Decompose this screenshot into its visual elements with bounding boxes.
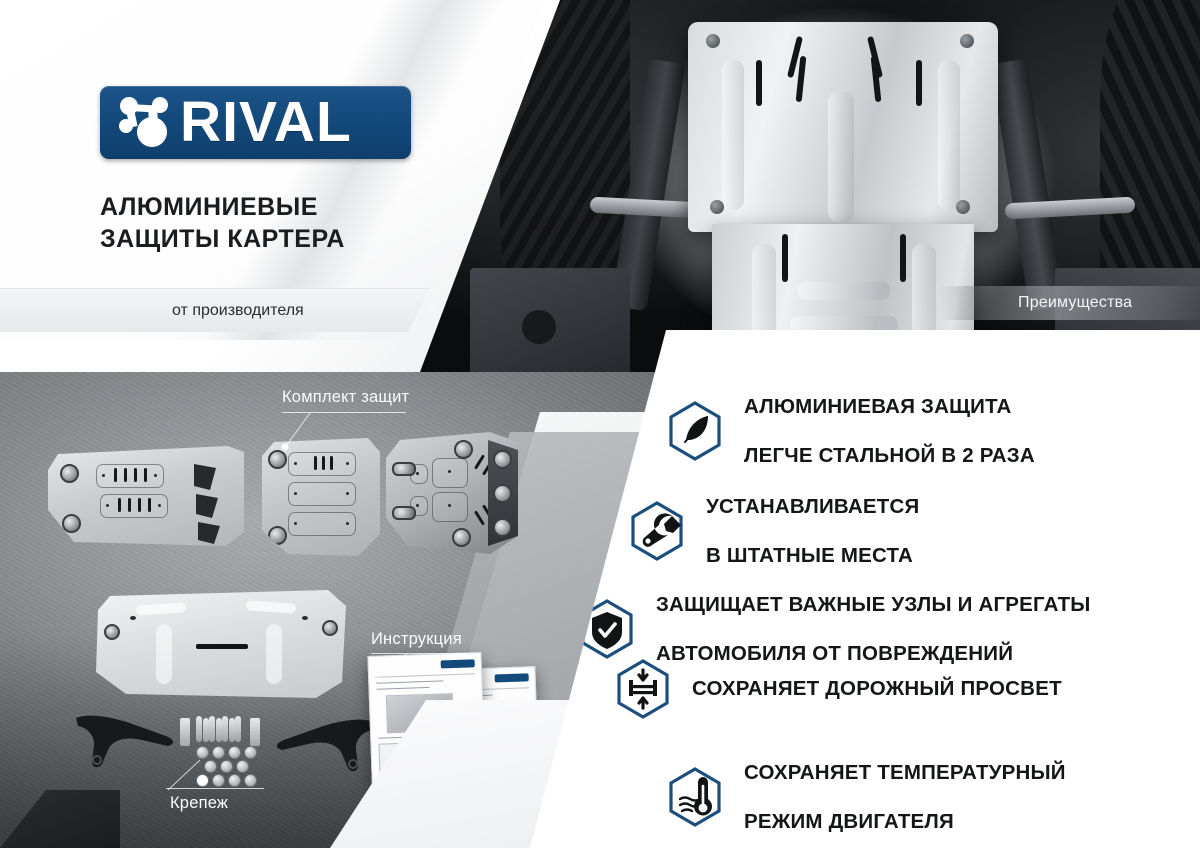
chassis-box-left: [470, 268, 630, 372]
feature-text-2-line2: В ШТАТНЫЕ МЕСТА: [706, 544, 919, 569]
feature-text-3-line1: ЗАЩИЩАЕТ ВАЖНЫЕ УЗЛЫ И АГРЕГАТЫ: [656, 593, 1091, 618]
skid-plate-2: [262, 438, 380, 556]
callout-hardware: Крепеж: [170, 790, 228, 813]
hardware-plate-1: [180, 718, 190, 746]
bracket-right-icon: [268, 714, 378, 774]
molecule-icon: [112, 92, 182, 154]
advantages-badge-label: Преимущества: [1018, 294, 1132, 312]
callout-kit-leader: [276, 412, 312, 452]
feature-item-4: СОХРАНЯЕТ ДОРОЖНЫЙ ПРОСВЕТ: [612, 652, 1172, 726]
feature-text-5-line2: РЕЖИМ ДВИГАТЕЛЯ: [744, 810, 1066, 835]
page-title-line1: АЛЮМИНИЕВЫЕ: [100, 192, 500, 224]
callout-kit: Комплект защит: [282, 388, 409, 407]
callout-instruction-leader: [369, 653, 409, 683]
callout-hardware-leader: [166, 758, 238, 792]
skid-plate-4: [96, 590, 346, 698]
screw: [203, 718, 209, 742]
installed-skid-plate-front: [688, 22, 998, 232]
advantages-badge: Преимущества: [940, 286, 1200, 320]
rival-logo: RIVAL: [100, 86, 411, 159]
feature-text-1-line2: ЛЕГЧЕ СТАЛЬНОЙ В 2 РАЗА: [744, 444, 1035, 469]
skid-plate-1: [48, 446, 244, 546]
callout-kit-label: Комплект защит: [282, 388, 409, 406]
page-title: АЛЮМИНИЕВЫЕ ЗАЩИТЫ КАРТЕРА: [100, 192, 500, 255]
subtitle-text: от производителя: [172, 302, 304, 320]
washer: [244, 774, 257, 787]
promo-banner: Преимущества RIVAL АЛЮМИНИЕВЫЕ ЗАЩИТЫ КА…: [0, 0, 1200, 848]
feature-text-4-line1: СОХРАНЯЕТ ДОРОЖНЫЙ ПРОСВЕТ: [692, 677, 1062, 702]
feature-text-2-line1: УСТАНАВЛИВАЕТСЯ: [706, 495, 919, 520]
skid-plate-3: [386, 432, 518, 554]
rival-logo-text: RIVAL: [180, 94, 352, 151]
feature-text-4: СОХРАНЯЕТ ДОРОЖНЫЙ ПРОСВЕТ: [692, 652, 1062, 726]
feature-text-1-line1: АЛЮМИНИЕВАЯ ЗАЩИТА: [744, 395, 1035, 420]
screw: [222, 716, 228, 742]
feature-text-5-line1: СОХРАНЯЕТ ТЕМПЕРАТУРНЫЙ: [744, 761, 1066, 786]
feature-item-5: СОХРАНЯЕТ ТЕМПЕРАТУРНЫЙ РЕЖИМ ДВИГАТЕЛЯ: [664, 736, 1184, 848]
washer: [244, 746, 257, 759]
leaf-icon: [664, 400, 726, 462]
callout-hardware-label: Крепеж: [170, 794, 228, 813]
hardware-plate-2: [250, 718, 260, 746]
wrench-icon: [626, 500, 688, 562]
thermometer-icon: [664, 766, 726, 828]
screw: [196, 716, 202, 742]
page-title-line2: ЗАЩИТЫ КАРТЕРА: [100, 224, 500, 256]
screw: [209, 716, 215, 742]
callout-instruction: Инструкция: [371, 630, 462, 649]
screw: [229, 718, 235, 742]
ground-clearance-icon: [612, 658, 674, 720]
screw: [216, 718, 222, 742]
feature-text-5: СОХРАНЯЕТ ТЕМПЕРАТУРНЫЙ РЕЖИМ ДВИГАТЕЛЯ: [744, 736, 1066, 848]
callout-instruction-label: Инструкция: [371, 630, 462, 648]
subtitle-bar: от производителя: [0, 288, 430, 333]
screw: [235, 716, 241, 742]
